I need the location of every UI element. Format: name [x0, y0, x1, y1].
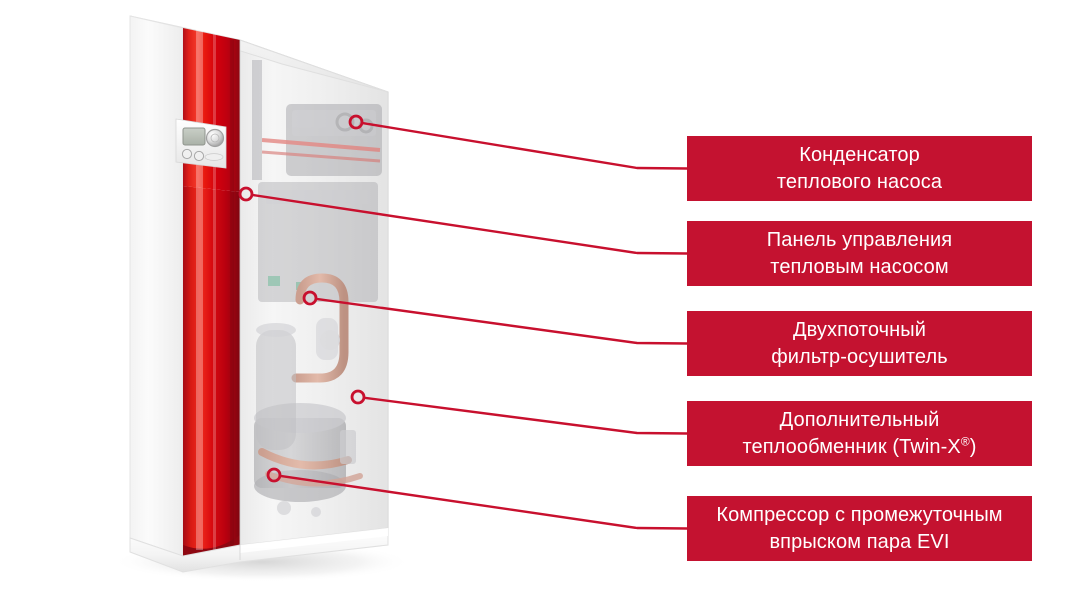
lcd-display: [183, 128, 205, 145]
twinx-line: теплообменник (Twin-X®): [742, 436, 976, 458]
red-front-panel: [183, 28, 240, 560]
callout-label-filter-drier: Двухпоточный фильтр-осушитель: [771, 317, 948, 371]
control-badge: [205, 154, 223, 161]
control-panel: [176, 119, 226, 168]
callout-box-filter-drier[interactable]: Двухпоточный фильтр-осушитель: [687, 311, 1032, 376]
cabinet-left-side: [130, 16, 183, 556]
callout-label-extra-heat-exchanger: Дополнительныйтеплообменник (Twin-X®): [742, 407, 976, 461]
callout-box-control-panel[interactable]: Панель управления тепловым насосом: [687, 221, 1032, 286]
control-button-1: [182, 149, 191, 158]
callout-label-control-panel: Панель управления тепловым насосом: [767, 227, 952, 281]
control-button-2: [194, 151, 203, 160]
control-knob: [207, 130, 224, 147]
callout-label-condenser: Конденсатор теплового насоса: [777, 142, 942, 196]
callout-box-condenser[interactable]: Конденсатор теплового насоса: [687, 136, 1032, 201]
callout-box-evi-compressor[interactable]: Компрессор с промежуточным впрыском пара…: [687, 496, 1032, 561]
diagram-canvas: Конденсатор теплового насоса Панель упра…: [0, 0, 1078, 595]
callout-label-evi-compressor: Компрессор с промежуточным впрыском пара…: [716, 502, 1002, 556]
callout-box-extra-heat-exchanger[interactable]: Дополнительныйтеплообменник (Twin-X®): [687, 401, 1032, 466]
